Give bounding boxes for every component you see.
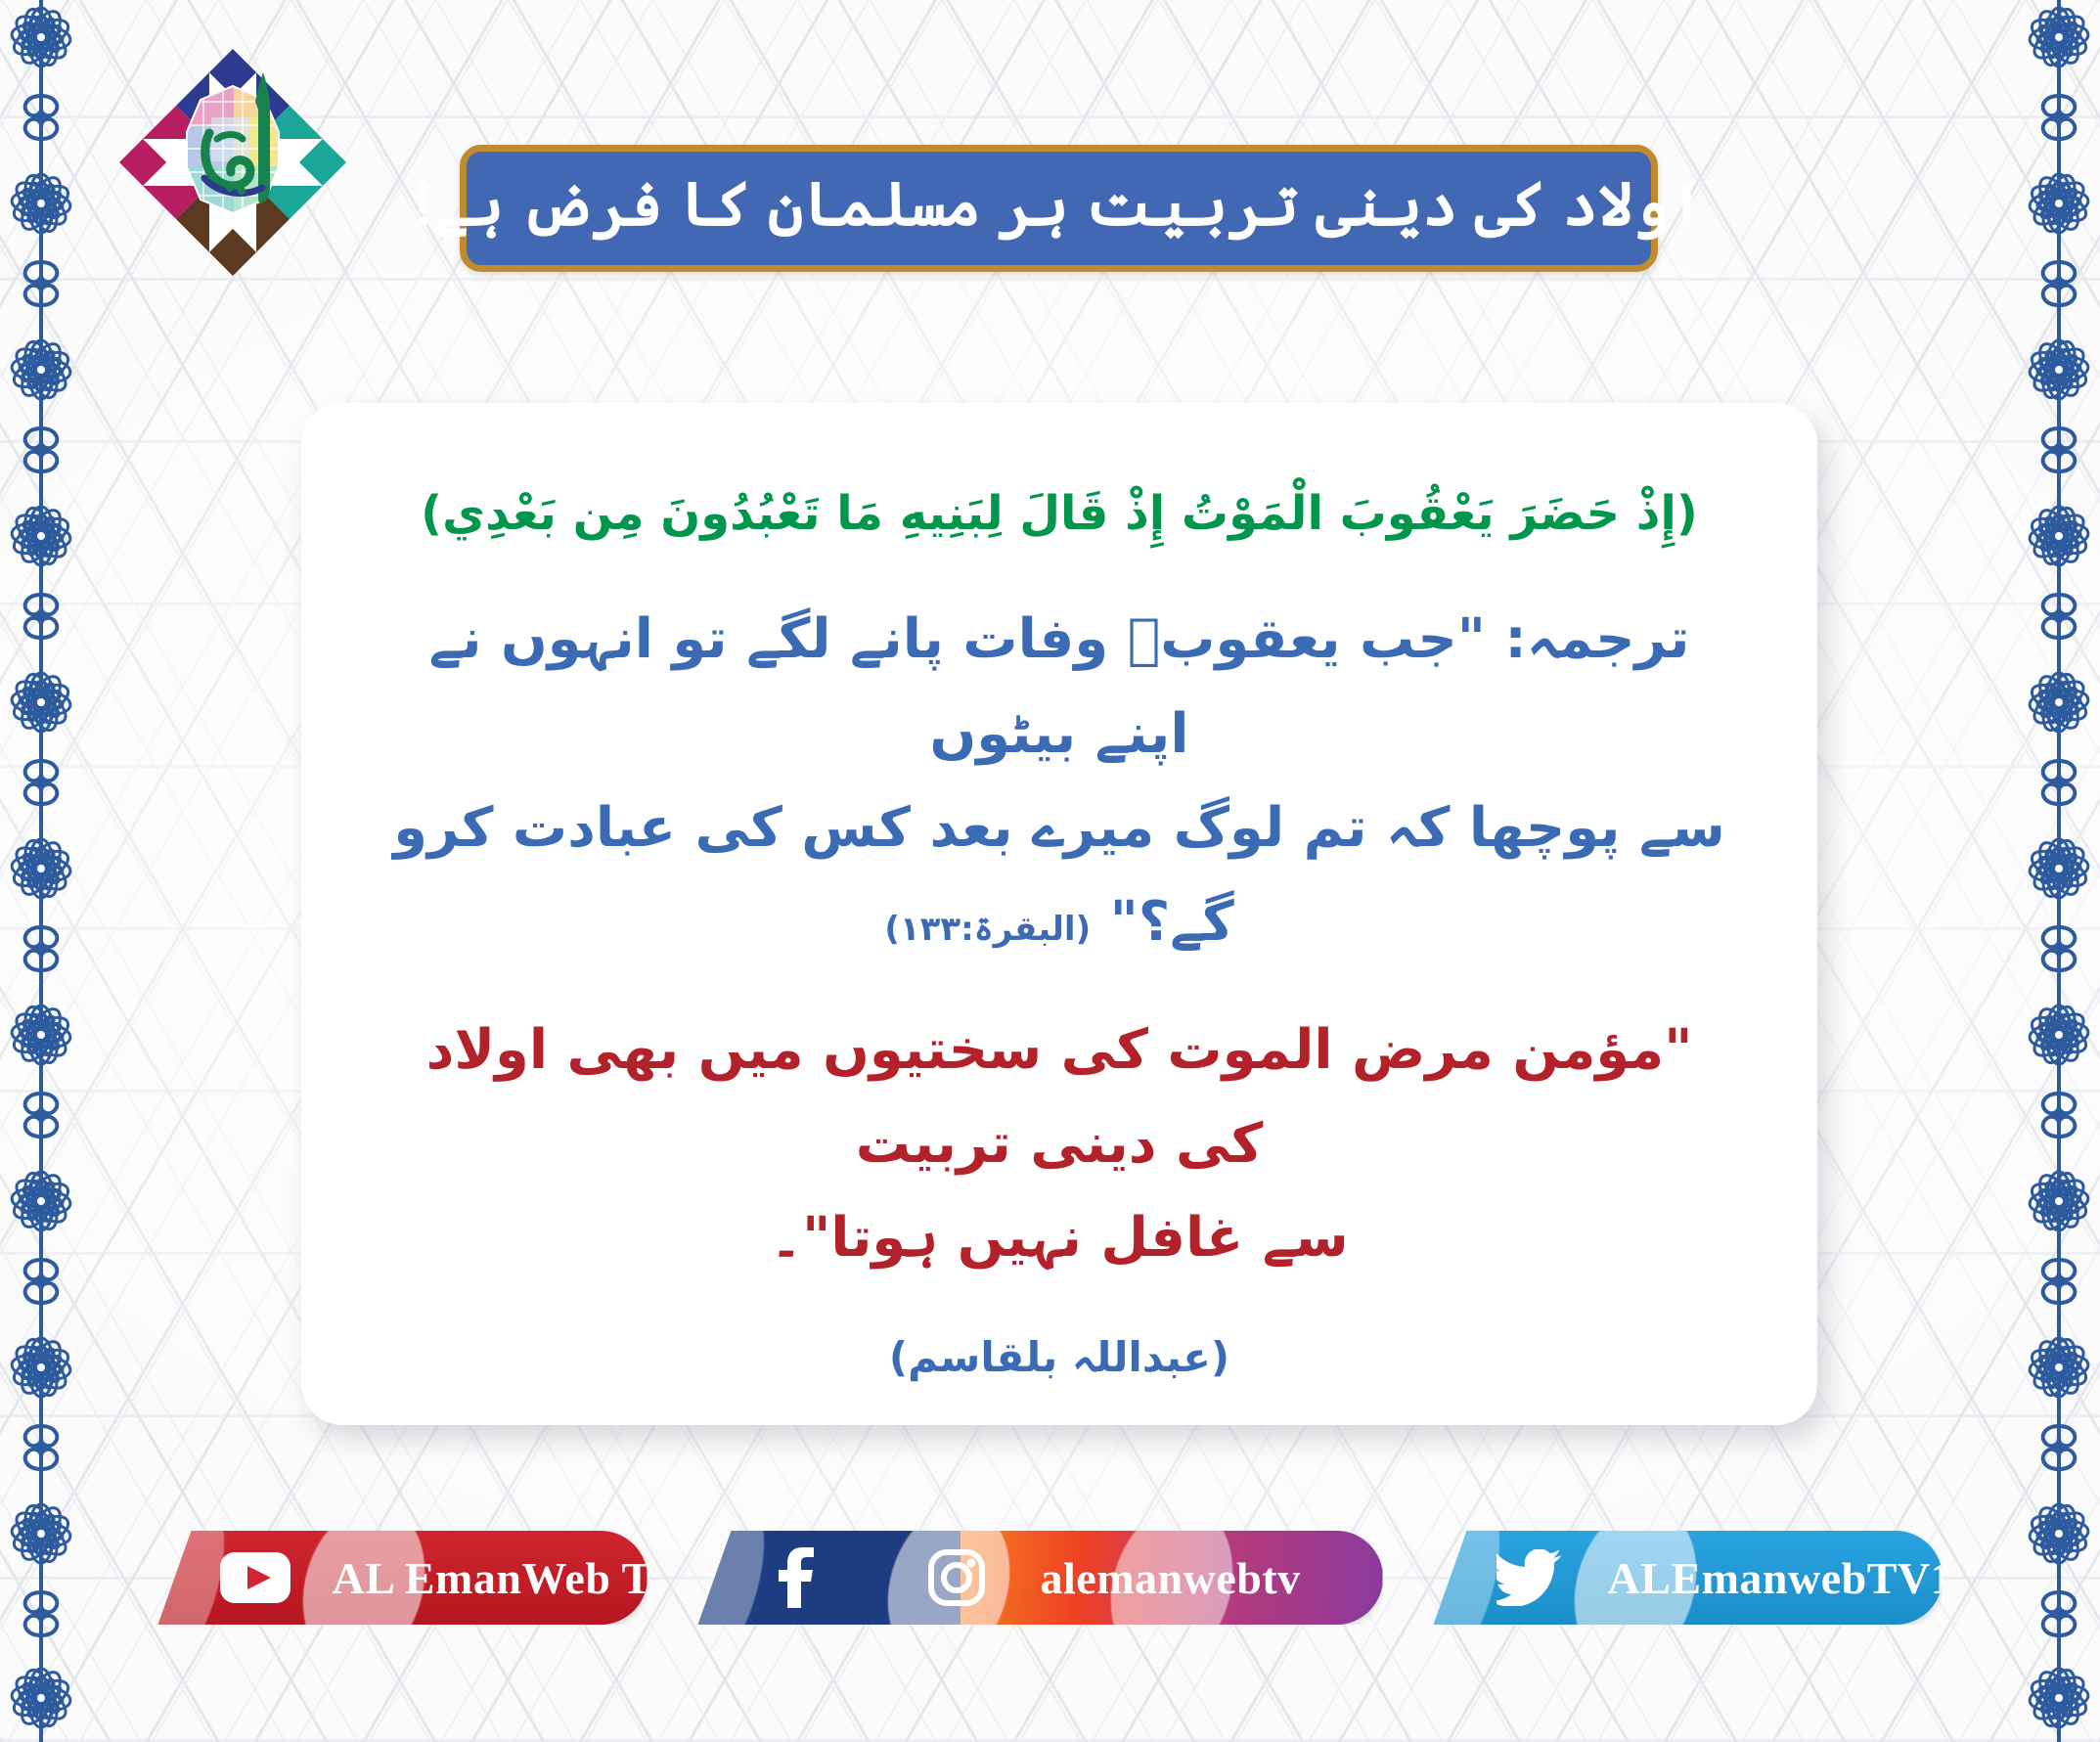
quote-line-1: "مؤمن مرض الموت کی سختیوں میں بھی اولاد … [374,1004,1745,1192]
facebook-instagram-badge[interactable]: alemanwebtv [698,1531,1383,1625]
facebook-f-icon[interactable] [771,1547,818,1608]
quote-line-2: سے غافل نہیں ہوتا"۔ [374,1191,1745,1285]
scholar-quote: "مؤمن مرض الموت کی سختیوں میں بھی اولاد … [374,1004,1745,1286]
quran-verse-arabic: (إِذْ حَضَرَ يَعْقُوبَ الْمَوْتُ إِذْ قَ… [374,477,1745,550]
youtube-badge[interactable]: AL EmanWeb TV [158,1531,648,1625]
translation-line-2: سے پوچھا کہ تم لوگ میرے بعد کس کی عبادت … [374,782,1745,970]
youtube-handle-label: AL EmanWeb TV [333,1552,648,1604]
content-card: (إِذْ حَضَرَ يَعْقُوبَ الْمَوْتُ إِذْ قَ… [301,403,1817,1425]
urdu-translation: ترجمہ: "جب یعقوبؑ وفات پانے لگے تو انہوں… [374,593,1745,969]
brand-logo [102,31,364,293]
ornamental-border-left [0,0,84,1742]
twitter-handle-label: ALEmanwebTV1 [1608,1552,1943,1604]
quote-attribution: (عبداللہ بلقاسم) [374,1329,1745,1387]
translation-line-1: ترجمہ: "جب یعقوبؑ وفات پانے لگے تو انہوں… [374,593,1745,782]
page-title: اولاد کی دینی تربیت ہر مسلمان کا فرض ہے! [413,173,1705,243]
poster-canvas: اولاد کی دینی تربیت ہر مسلمان کا فرض ہے!… [0,0,2100,1742]
twitter-bird-icon [1497,1549,1565,1606]
verse-reference: (البقرۃ:۱۳۳) [884,910,1091,949]
twitter-badge[interactable]: ALEmanwebTV1 [1434,1531,1943,1625]
header-banner: اولاد کی دینی تربیت ہر مسلمان کا فرض ہے! [460,145,1658,272]
ornamental-border-right [2016,0,2100,1742]
badge-swoosh-decoration-2 [698,1531,779,1625]
youtube-play-icon [219,1551,291,1604]
social-media-footer: AL EmanWeb TV alemanwebtv [0,1523,2100,1632]
